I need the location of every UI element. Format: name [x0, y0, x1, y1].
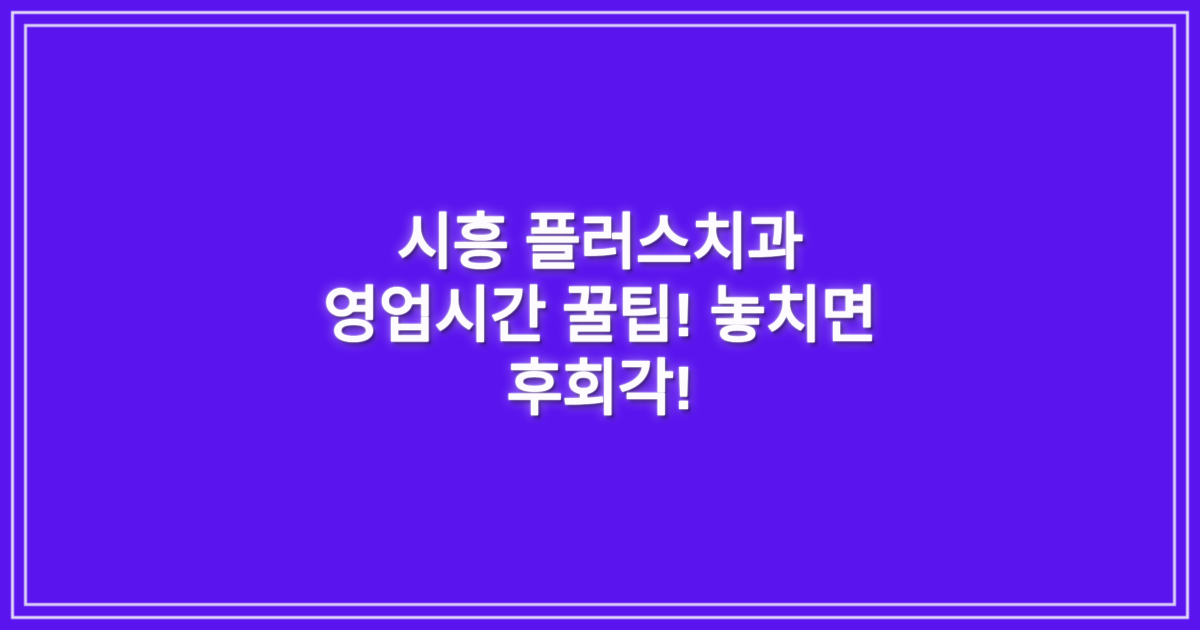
- headline-line-3: 후회각!: [70, 352, 1130, 425]
- thumbnail-card: 시흥 플러스치과 영업시간 꿀팁! 놓치면 후회각!: [0, 0, 1200, 630]
- headline-line-2: 영업시간 꿀팁! 놓치면: [70, 279, 1130, 352]
- headline-block: 시흥 플러스치과 영업시간 꿀팁! 놓치면 후회각!: [0, 0, 1200, 630]
- headline-line-1: 시흥 플러스치과: [70, 206, 1130, 279]
